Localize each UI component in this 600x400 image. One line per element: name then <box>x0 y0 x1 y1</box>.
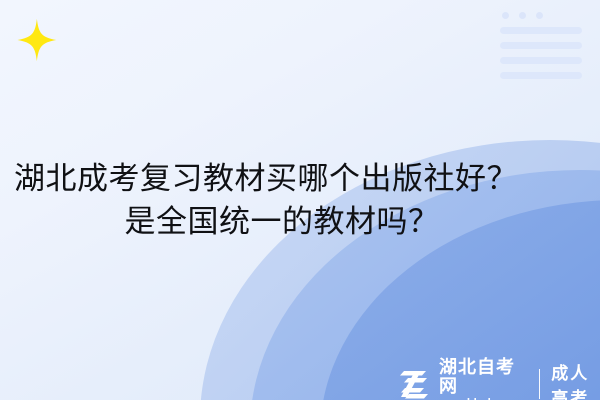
logo-divider <box>539 369 540 399</box>
document-lines-icon <box>500 12 582 87</box>
document-dot <box>519 12 526 19</box>
logo-text-block: 湖北自考网 www.hbzkw.com <box>439 358 529 400</box>
document-dot <box>536 12 543 19</box>
site-url: www.hbzkw.com <box>439 396 529 400</box>
document-dots <box>500 12 582 19</box>
headline-line-1: 湖北成考复习教材买哪个出版社好？ <box>14 158 586 201</box>
site-name: 湖北自考网 <box>439 358 529 396</box>
logo-tagline: 成人高考 <box>551 359 600 400</box>
document-bar <box>500 72 582 79</box>
sparkle-star-icon <box>14 18 58 62</box>
document-dot <box>502 12 509 19</box>
promo-banner: 湖北成考复习教材买哪个出版社好？ 是全国统一的教材吗？ 湖北自考网 www.hb… <box>0 0 600 400</box>
document-bar <box>500 27 582 34</box>
banner-headline: 湖北成考复习教材买哪个出版社好？ 是全国统一的教材吗？ <box>0 158 600 244</box>
hbzkw-z-mark-icon <box>398 368 432 400</box>
document-bar <box>500 57 582 64</box>
footer-logo-lockup[interactable]: 湖北自考网 www.hbzkw.com 成人高考 <box>398 358 600 400</box>
headline-line-2: 是全国统一的教材吗？ <box>14 201 586 244</box>
document-bar <box>500 42 582 49</box>
